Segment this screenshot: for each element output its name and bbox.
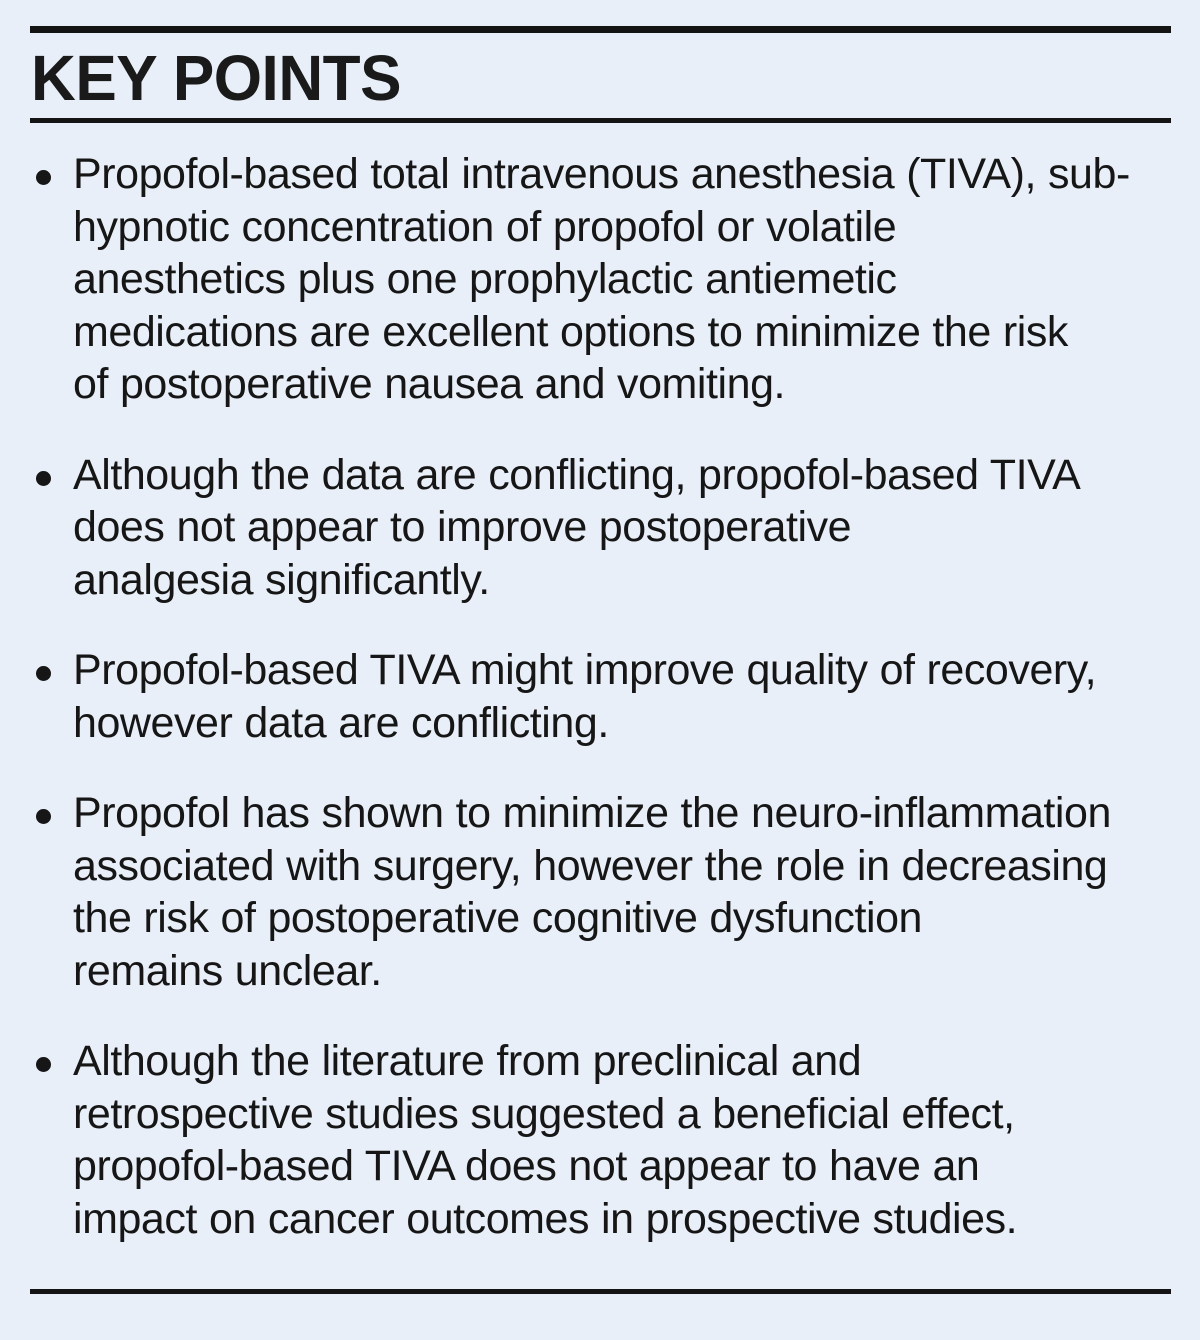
list-item-text: Although the literature from preclinical… xyxy=(73,1035,1170,1245)
key-points-callout-box: KEY POINTS Propofol-based total intraven… xyxy=(0,0,1200,1340)
bullet-icon xyxy=(36,1057,51,1072)
list-item: Propofol-based total intravenous anesthe… xyxy=(30,148,1170,411)
bullet-icon xyxy=(36,809,51,824)
top-divider-rule xyxy=(30,26,1171,33)
title-underline-rule xyxy=(30,118,1171,123)
list-item-text: Although the data are conflicting, propo… xyxy=(73,449,1170,607)
list-item-text: Propofol has shown to minimize the neuro… xyxy=(73,787,1170,997)
list-item-text: Propofol-based total intravenous anesthe… xyxy=(73,148,1170,411)
key-points-list: Propofol-based total intravenous anesthe… xyxy=(30,148,1170,1245)
bottom-divider-rule xyxy=(30,1289,1171,1294)
list-item-text: Propofol-based TIVA might improve qualit… xyxy=(73,644,1170,749)
list-item: Although the literature from preclinical… xyxy=(30,1035,1170,1245)
page-title: KEY POINTS xyxy=(31,42,401,114)
list-item: Propofol-based TIVA might improve qualit… xyxy=(30,644,1170,749)
bullet-icon xyxy=(36,170,51,185)
list-item: Although the data are conflicting, propo… xyxy=(30,449,1170,607)
list-item: Propofol has shown to minimize the neuro… xyxy=(30,787,1170,997)
bullet-icon xyxy=(36,471,51,486)
bullet-icon xyxy=(36,666,51,681)
